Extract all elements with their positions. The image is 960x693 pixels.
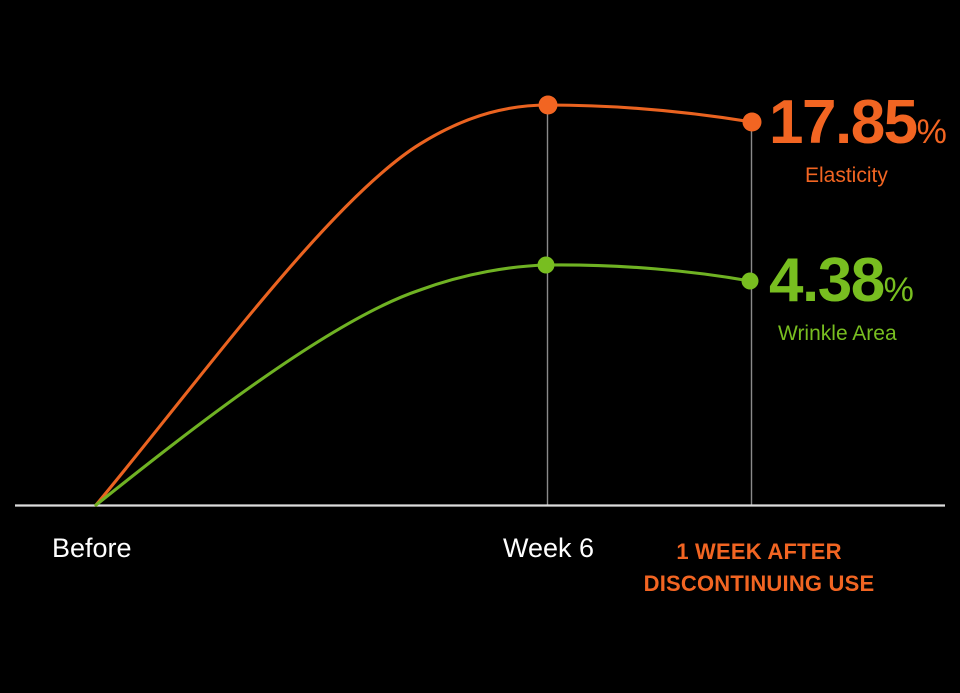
callout-elasticity: 17.85% Elasticity bbox=[769, 92, 946, 186]
axis-label-discontinue-line1: 1 WEEK AFTER bbox=[604, 536, 914, 568]
wrinkle-caption: Wrinkle Area bbox=[778, 323, 913, 344]
axis-label-discontinue-use: 1 WEEK AFTER DISCONTINUING USE bbox=[604, 536, 914, 600]
elasticity-caption: Elasticity bbox=[805, 165, 946, 186]
chart-canvas: 17.85% Elasticity 4.38% Wrinkle Area Bef… bbox=[0, 0, 960, 693]
axis-label-before: Before bbox=[52, 533, 132, 564]
series-line-elasticity bbox=[96, 105, 752, 505]
data-point-elasticity-week6 bbox=[539, 96, 558, 115]
axis-label-discontinue-line2: DISCONTINUING USE bbox=[604, 568, 914, 600]
elasticity-value: 17.85 bbox=[769, 88, 917, 157]
elasticity-percent-sign: % bbox=[917, 113, 947, 151]
wrinkle-value: 4.38 bbox=[769, 246, 884, 315]
data-point-elasticity-discontinue bbox=[743, 113, 762, 132]
wrinkle-percent-sign: % bbox=[884, 271, 914, 309]
data-point-wrinkle-discontinue bbox=[742, 273, 759, 290]
data-point-wrinkle-week6 bbox=[538, 257, 555, 274]
callout-wrinkle-area: 4.38% Wrinkle Area bbox=[769, 250, 913, 344]
axis-label-week6: Week 6 bbox=[503, 533, 594, 564]
